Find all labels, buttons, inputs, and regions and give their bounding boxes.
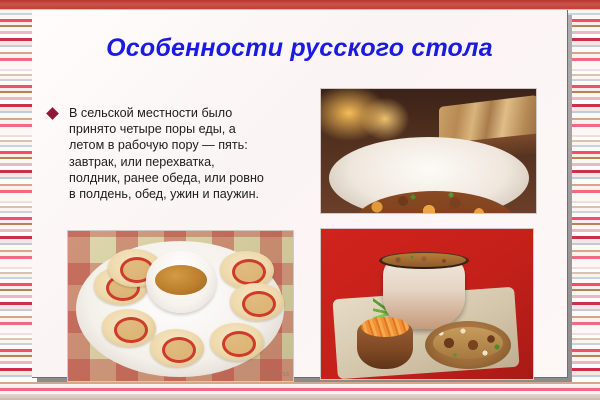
- plaid-tablecloth: Гurkysa: [68, 231, 293, 381]
- carrot-salad: [361, 317, 409, 337]
- presentation-slide: Особенности русского стола В сельской ме…: [0, 0, 600, 400]
- jam-swirl: [162, 337, 196, 363]
- jam-sauce: [155, 265, 207, 295]
- photo-beef-pumpkin-stew: [320, 88, 537, 214]
- sauce-bowl: [146, 251, 216, 313]
- top-accent-band: [0, 0, 600, 9]
- syrnik: [230, 283, 284, 321]
- photo-meatball-soup-pot: [320, 228, 534, 380]
- bottom-accent-band: [0, 394, 600, 400]
- white-plate: [329, 137, 529, 214]
- soup-surface: [382, 253, 466, 267]
- slide-title: Особенности русского стола: [32, 34, 567, 63]
- jam-swirl: [114, 317, 148, 343]
- pot-rim: [379, 252, 469, 269]
- jam-swirl: [232, 259, 266, 285]
- photo-syrniki-with-jam: Гurkysa: [67, 230, 294, 382]
- bullet-list-item: В сельской местности было принято четыре…: [48, 105, 298, 202]
- syrnik: [102, 309, 156, 347]
- side-dish-plate: [425, 321, 511, 369]
- bullet-text: В сельской местности было принято четыре…: [69, 105, 264, 202]
- photo-watermark: Гurkysa: [263, 369, 289, 378]
- jam-swirl: [222, 331, 256, 357]
- meatballs-and-potatoes: [433, 327, 503, 359]
- stew-photo-backdrop: [321, 89, 536, 213]
- red-photo-backdrop: [321, 229, 533, 379]
- diamond-bullet-icon: [46, 107, 59, 120]
- syrnik: [210, 323, 264, 361]
- jam-swirl: [242, 291, 276, 317]
- stew-contents: [355, 191, 515, 214]
- syrnik: [150, 329, 204, 367]
- carrot-salad-bowl: [357, 323, 413, 369]
